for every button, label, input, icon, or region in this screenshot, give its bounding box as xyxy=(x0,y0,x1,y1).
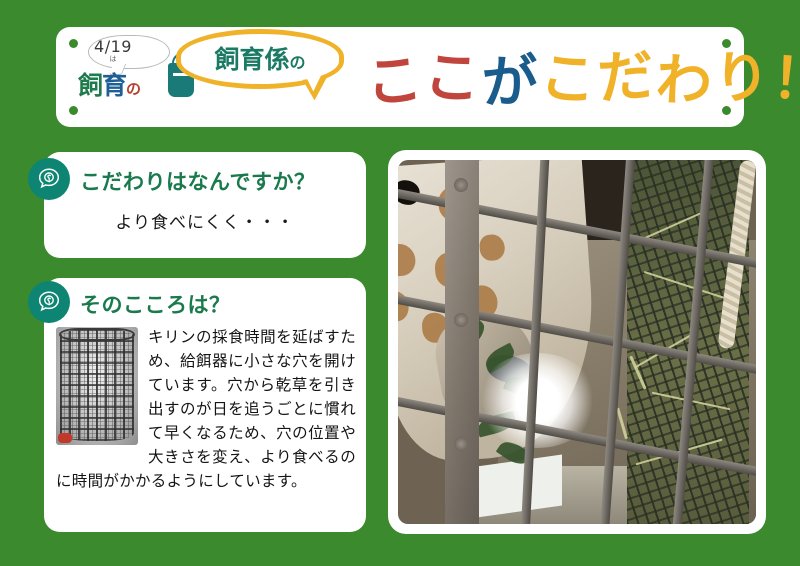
keeper-speech-bubble: 飼育係の xyxy=(176,29,344,89)
concrete-post xyxy=(445,160,479,524)
title-char: ！ xyxy=(770,51,800,111)
question-heading-2: そのこころは？ xyxy=(80,289,231,319)
title-char: だ xyxy=(596,48,658,108)
giraffe-spot xyxy=(478,233,505,262)
giraffe-photo xyxy=(398,160,756,524)
post-bolt xyxy=(454,313,468,327)
hay-strand xyxy=(643,271,725,299)
question-speech-bubble-icon xyxy=(28,158,70,200)
title-char: わ xyxy=(654,53,715,112)
feeder-rim xyxy=(59,328,135,341)
logo-particle-text: は xyxy=(72,54,154,64)
post-bolt xyxy=(454,437,468,451)
header-plaque: 4/19 は 飼育の 飼育係の こ こ が こ だ わ り ！ xyxy=(56,27,744,127)
title-char: り xyxy=(713,50,773,108)
answer-text-1: より食べにくく・・・ xyxy=(44,208,366,233)
feeder-red-marker xyxy=(58,433,72,443)
page-title: こ こ が こ だ わ り ！ xyxy=(366,41,800,119)
feeder-thumbnail-photo xyxy=(56,327,138,445)
question-heading-1: こだわりはなんですか？ xyxy=(80,166,315,196)
speech-bubble-tail xyxy=(303,76,331,101)
answer-body-2: キリンの採食時間を延ばすため、給餌器に小さな穴を開けています。穴から乾草を引き出… xyxy=(56,325,356,493)
feeder-mesh-texture xyxy=(60,329,134,441)
keeper-speech-text: 飼育係の xyxy=(214,40,305,76)
post-bolt xyxy=(454,178,468,192)
title-char: こ xyxy=(364,52,427,113)
title-char: こ xyxy=(422,49,484,109)
title-char: こ xyxy=(538,50,601,111)
giraffe-spot xyxy=(398,243,416,278)
logo-wordmark: 飼育の xyxy=(78,73,140,98)
giraffe-photo-frame xyxy=(388,150,766,534)
title-char: が xyxy=(481,54,542,113)
question-speech-bubble-icon xyxy=(28,281,70,323)
